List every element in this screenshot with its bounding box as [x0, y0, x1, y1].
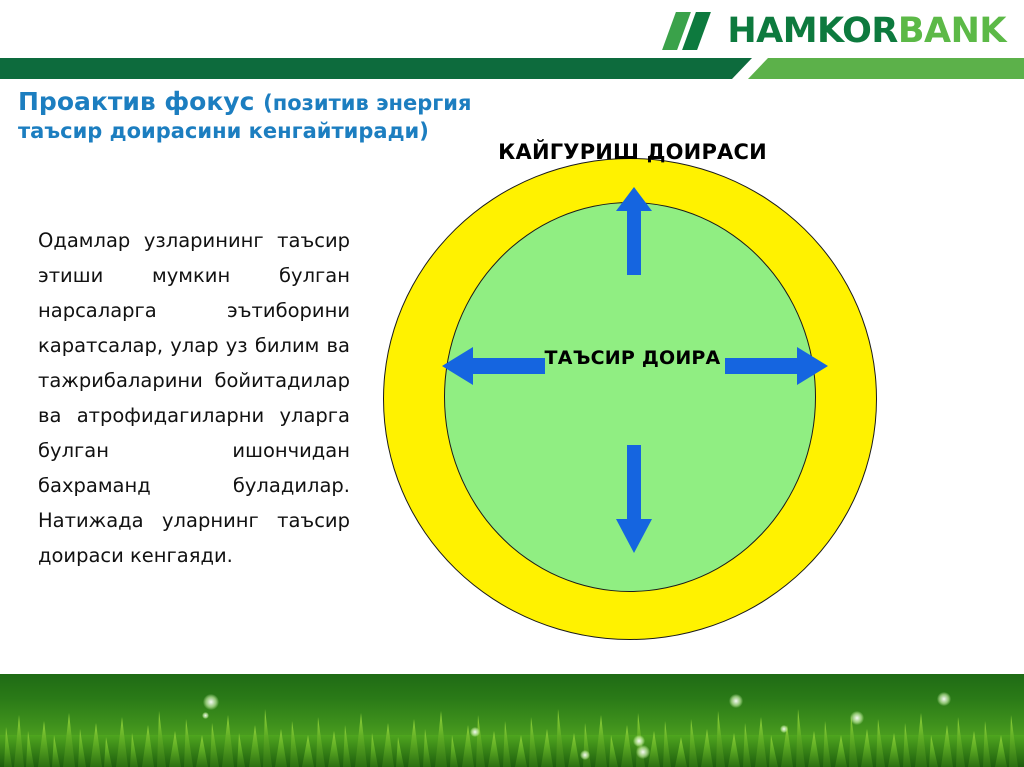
bokeh-light [580, 750, 590, 760]
divider-segment-light [748, 58, 1024, 79]
logo-word-bank: BANK [898, 11, 1006, 51]
arrow-right-icon [725, 345, 830, 387]
outer-circle-label: КАЙГУРИШ ДОИРАСИ [380, 140, 885, 164]
logo-word-hamkor: HAMKOR [727, 11, 897, 51]
bokeh-light [202, 712, 209, 719]
hamkorbank-logo[interactable]: HAMKORBANK [665, 10, 1006, 52]
bokeh-light [729, 694, 743, 708]
page-title: Проактив фокус (позитив энергия таъсир д… [18, 86, 488, 145]
brand-header: HAMKORBANK [0, 0, 1024, 86]
hamkorbank-mark-icon [665, 12, 717, 50]
arrow-down-icon [613, 445, 655, 555]
grass-blades [0, 705, 1024, 767]
body-paragraph: Одамлар узларининг таъсир этиши мумкин б… [38, 223, 350, 573]
arrow-up-icon [613, 185, 655, 275]
arrow-left-icon [440, 345, 545, 387]
bokeh-light [636, 745, 650, 759]
slide-canvas: HAMKORBANK Проактив фокус (позитив энерг… [0, 0, 1024, 767]
header-divider-bar [0, 58, 1024, 79]
divider-segment-dark [0, 58, 752, 79]
grass-footer-image [0, 674, 1024, 767]
title-main-text: Проактив фокус [18, 87, 263, 116]
bokeh-light [850, 711, 864, 725]
bokeh-light [203, 694, 219, 710]
bokeh-light [937, 692, 951, 706]
logo-wordmark: HAMKORBANK [727, 14, 1006, 49]
bokeh-light [633, 735, 645, 747]
bokeh-light [780, 725, 788, 733]
concentric-circles-diagram: КАЙГУРИШ ДОИРАСИ ТАЪСИР ДОИРА [380, 140, 885, 645]
bokeh-light [470, 727, 480, 737]
